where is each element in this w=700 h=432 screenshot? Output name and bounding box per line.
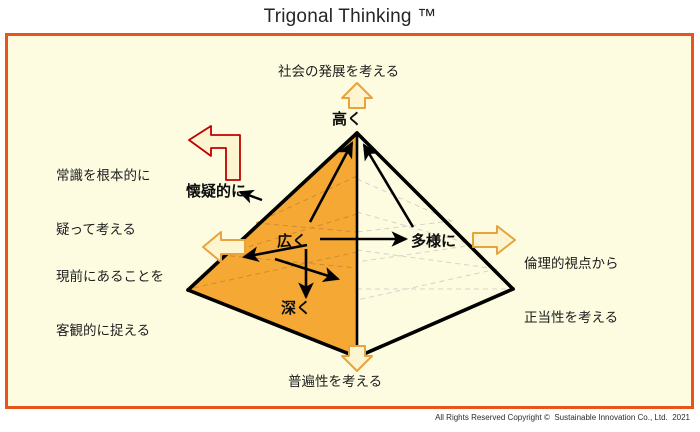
axis-label-kaigi: 懐疑的に xyxy=(186,182,246,200)
callout-top-label: 社会の発展を考える xyxy=(278,63,399,81)
axis-label-tayou: 多様に xyxy=(411,232,456,250)
callout-left-line1: 現前にあることを xyxy=(56,268,164,286)
callout-right-label: 倫理的視点から 正当性を考える xyxy=(524,219,619,363)
callout-right-line2: 正当性を考える xyxy=(524,309,619,327)
axis-label-fukaku: 深く xyxy=(281,299,311,317)
copyright-footer: All Rights Reserved Copyright © Sustaina… xyxy=(435,413,690,422)
axis-label-takaku: 高く xyxy=(332,110,362,128)
callout-left-line2: 客観的に捉える xyxy=(56,322,164,340)
callout-upper-left-line1: 常識を根本的に xyxy=(56,167,151,185)
slide-canvas: Trigonal Thinking ™ xyxy=(0,0,700,432)
arrow-right-icon xyxy=(473,226,515,254)
callout-bottom-label: 普遍性を考える xyxy=(288,373,382,391)
callout-left-label: 現前にあることを 客観的に捉える xyxy=(56,232,164,376)
callout-right-line1: 倫理的視点から xyxy=(524,255,619,273)
axis-label-hiroku: 広く xyxy=(277,232,307,250)
arrow-up-icon xyxy=(342,83,372,108)
arrow-bent-left-icon xyxy=(189,126,240,180)
